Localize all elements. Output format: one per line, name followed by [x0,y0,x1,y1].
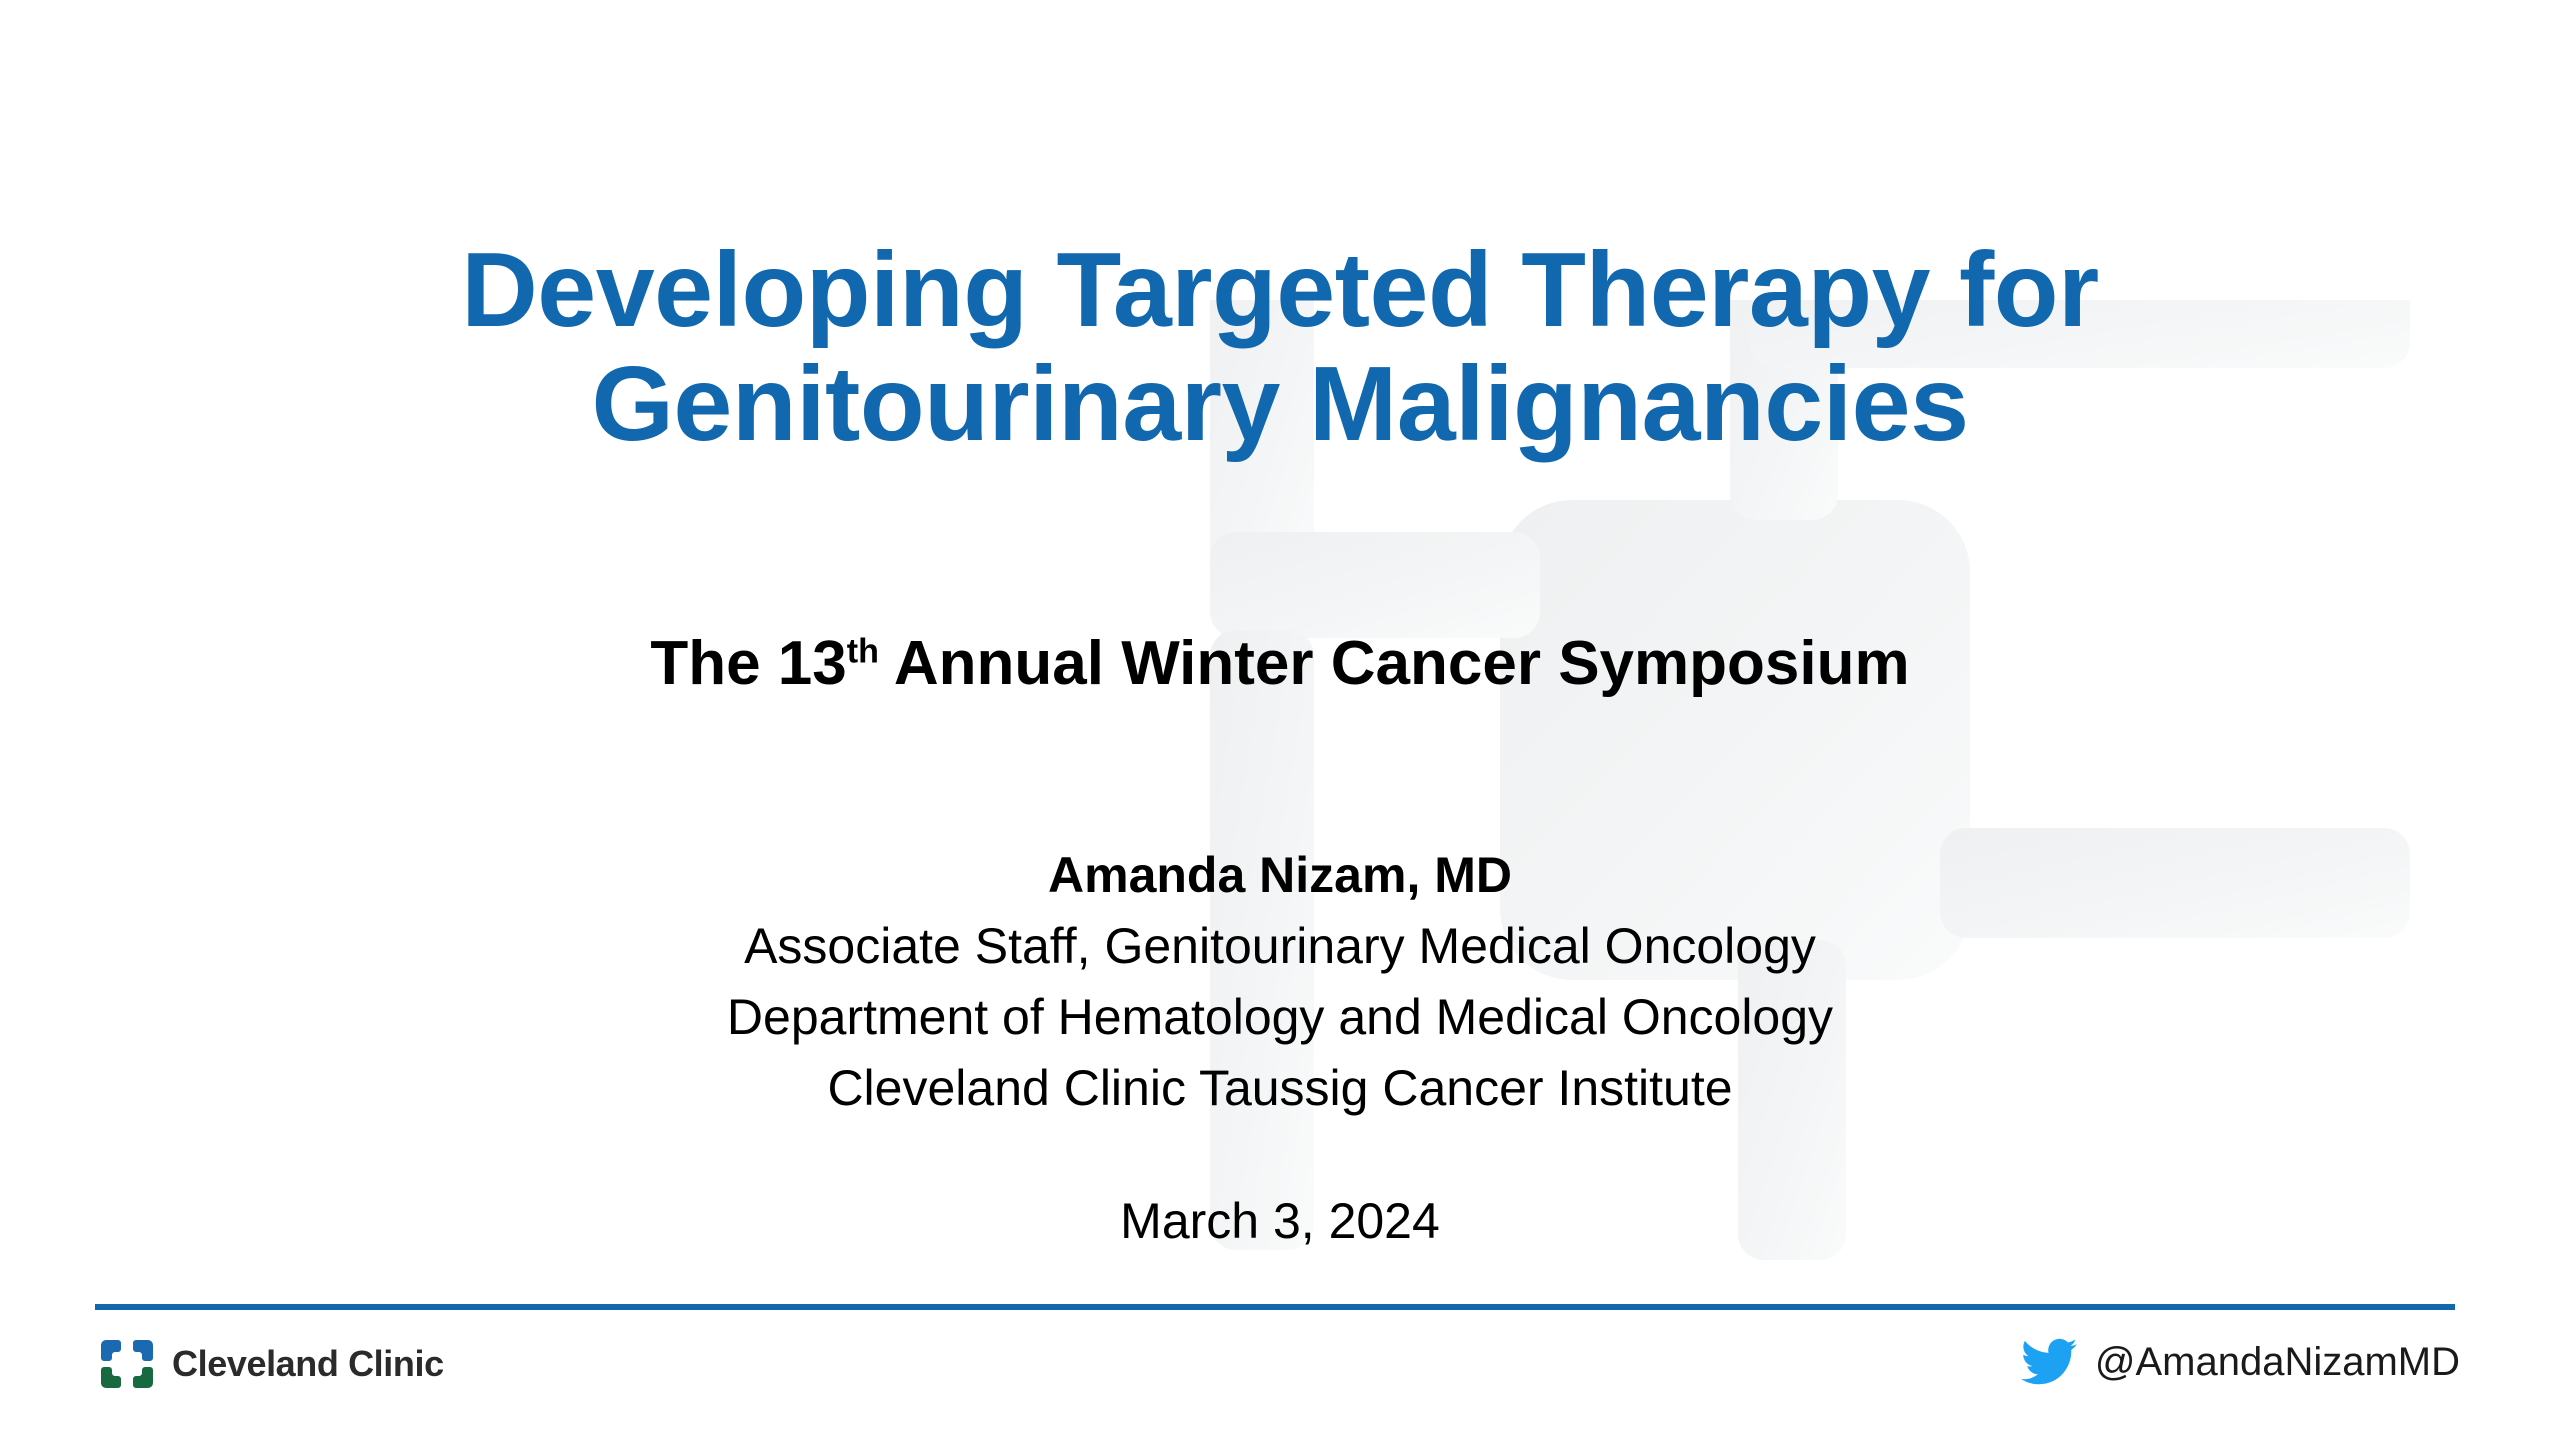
presenter-block: Amanda Nizam, MD Associate Staff, Genito… [0,840,2560,1124]
presenter-affiliation-1: Associate Staff, Genitourinary Medical O… [0,911,2560,982]
slide-content: Developing Targeted Therapy for Genitour… [0,0,2560,1280]
cleveland-clinic-pinwheel-icon [98,1338,156,1390]
presenter-name: Amanda Nizam, MD [0,840,2560,911]
presentation-title-slide: Developing Targeted Therapy for Genitour… [0,0,2560,1440]
title-line-2: Genitourinary Malignancies [170,347,2390,461]
twitter-bird-icon[interactable] [2021,1338,2077,1386]
subtitle-ordinal-superscript: th [847,632,879,670]
presenter-affiliation-3: Cleveland Clinic Taussig Cancer Institut… [0,1053,2560,1124]
title-line-1: Developing Targeted Therapy for [170,233,2390,347]
cleveland-clinic-logo: Cleveland Clinic [98,1338,444,1390]
footer-divider [95,1304,2455,1310]
subtitle-suffix: Annual Winter Cancer Symposium [879,629,1910,698]
cleveland-clinic-wordmark: Cleveland Clinic [172,1343,444,1385]
event-subtitle: The 13th Annual Winter Cancer Symposium [0,630,2560,698]
twitter-handle-block[interactable]: @AmandaNizamMD [2021,1338,2460,1386]
presentation-date: March 3, 2024 [0,1192,2560,1250]
subtitle-prefix: The 13 [650,629,846,698]
twitter-handle-text[interactable]: @AmandaNizamMD [2095,1340,2460,1385]
presenter-affiliation-2: Department of Hematology and Medical Onc… [0,982,2560,1053]
page-title: Developing Targeted Therapy for Genitour… [0,233,2560,462]
